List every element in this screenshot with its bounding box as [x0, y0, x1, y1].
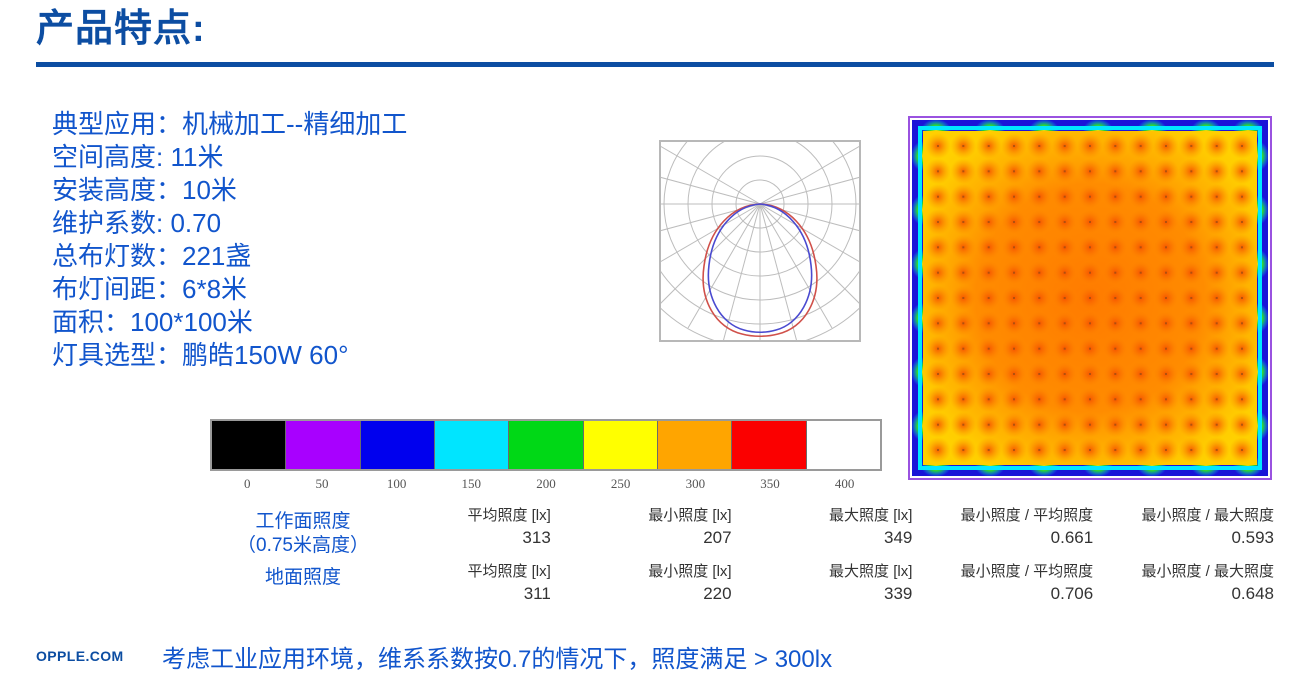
spec-line-maintenance-factor: 维护系数: 0.70 [52, 207, 612, 240]
row-label-floor: 地面照度 [218, 562, 388, 590]
illuminance-heatmap [908, 116, 1272, 480]
colour-swatch-400 [806, 421, 880, 469]
colour-swatch-100 [360, 421, 434, 469]
header-minimum: 最小照度 [lx] [569, 562, 732, 582]
colour-swatch-250 [583, 421, 657, 469]
scale-tick-100: 100 [387, 476, 407, 492]
row-label-working-plane-line2: （0.75米高度） [237, 535, 369, 556]
colour-swatch-50 [285, 421, 359, 469]
value-minimum-working: 207 [569, 526, 732, 549]
scale-tick-300: 300 [686, 476, 706, 492]
header-min-over-max: 最小照度 / 最大照度 [1111, 562, 1274, 582]
colour-swatch-200 [508, 421, 582, 469]
row-label-working-plane: 工作面照度 （0.75米高度） [218, 506, 388, 558]
illuminance-colour-scale: 0 50 100 150 200 250 300 350 400 [210, 419, 882, 496]
illuminance-results-table: 工作面照度 （0.75米高度） 平均照度 [lx] 313 最小照度 [lx] … [218, 506, 1292, 618]
specification-list: 典型应用：机械加工--精细加工 空间高度: 11米 安装高度：10米 维护系数:… [52, 108, 612, 372]
scale-tick-200: 200 [536, 476, 556, 492]
cell-uniformity-min-max-floor: 最小照度 / 最大照度 0.648 [1111, 562, 1292, 605]
table-row: 地面照度 平均照度 [lx] 311 最小照度 [lx] 220 最大照度 [l… [218, 562, 1292, 618]
scale-tick-50: 50 [315, 476, 328, 492]
spec-line-spacing: 布灯间距：6*8米 [52, 273, 612, 306]
colour-swatch-300 [657, 421, 731, 469]
spec-line-mounting-height: 安装高度：10米 [52, 174, 612, 207]
value-average-working: 313 [388, 526, 551, 549]
value-min-over-max-working: 0.593 [1111, 526, 1274, 549]
header-min-over-max: 最小照度 / 最大照度 [1111, 506, 1274, 526]
spec-line-area: 面积：100*100米 [52, 306, 612, 339]
scale-tick-150: 150 [462, 476, 482, 492]
spec-line-luminaire-model: 灯具选型：鹏皓150W 60° [52, 339, 612, 372]
row-label-floor-line1: 地面照度 [265, 567, 341, 588]
footer-note: 考虑工业应用环境，维系系数按0.7的情况下，照度满足 > 300lx [162, 639, 832, 674]
header-average: 平均照度 [lx] [388, 506, 551, 526]
polar-grid [661, 142, 859, 340]
table-row: 工作面照度 （0.75米高度） 平均照度 [lx] 313 最小照度 [lx] … [218, 506, 1292, 562]
cell-minimum-working: 最小照度 [lx] 207 [569, 506, 750, 549]
header-average: 平均照度 [lx] [388, 562, 551, 582]
scale-tick-250: 250 [611, 476, 631, 492]
cell-uniformity-min-avg-floor: 最小照度 / 平均照度 0.706 [930, 562, 1111, 605]
colour-scale-ticks: 0 50 100 150 200 250 300 350 400 [210, 476, 882, 496]
cell-average-floor: 平均照度 [lx] 311 [388, 562, 569, 605]
colour-bar [210, 419, 882, 471]
value-maximum-floor: 339 [750, 582, 913, 605]
header-maximum: 最大照度 [lx] [750, 506, 913, 526]
scale-tick-350: 350 [760, 476, 780, 492]
spec-line-application: 典型应用：机械加工--精细加工 [52, 108, 612, 141]
colour-swatch-0 [212, 421, 285, 469]
value-maximum-working: 349 [750, 526, 913, 549]
header-min-over-avg: 最小照度 / 平均照度 [930, 562, 1093, 582]
header-min-over-avg: 最小照度 / 平均照度 [930, 506, 1093, 526]
colour-swatch-350 [731, 421, 805, 469]
value-min-over-avg-working: 0.661 [930, 526, 1093, 549]
cell-uniformity-min-avg-working: 最小照度 / 平均照度 0.661 [930, 506, 1111, 549]
cell-maximum-working: 最大照度 [lx] 349 [750, 506, 931, 549]
polar-diagram-svg [661, 142, 859, 340]
title-underline [36, 62, 1274, 67]
cell-uniformity-min-max-working: 最小照度 / 最大照度 0.593 [1111, 506, 1292, 549]
spec-line-room-height: 空间高度: 11米 [52, 141, 612, 174]
value-minimum-floor: 220 [569, 582, 732, 605]
value-min-over-avg-floor: 0.706 [930, 582, 1093, 605]
scale-tick-400: 400 [835, 476, 855, 492]
cell-minimum-floor: 最小照度 [lx] 220 [569, 562, 750, 605]
value-min-over-max-floor: 0.648 [1111, 582, 1274, 605]
scale-tick-0: 0 [244, 476, 251, 492]
page-title: 产品特点: [36, 8, 206, 52]
opple-brand-logo: OPPLE.COM [36, 648, 124, 664]
header-minimum: 最小照度 [lx] [569, 506, 732, 526]
heatmap-svg [908, 116, 1272, 480]
colour-swatch-150 [434, 421, 508, 469]
header-maximum: 最大照度 [lx] [750, 562, 913, 582]
polar-light-distribution-chart [659, 140, 861, 342]
spec-line-luminaire-count: 总布灯数：221盏 [52, 240, 612, 273]
row-label-working-plane-line1: 工作面照度 [255, 511, 350, 532]
value-average-floor: 311 [388, 582, 551, 605]
cell-maximum-floor: 最大照度 [lx] 339 [750, 562, 931, 605]
cell-average-working: 平均照度 [lx] 313 [388, 506, 569, 549]
